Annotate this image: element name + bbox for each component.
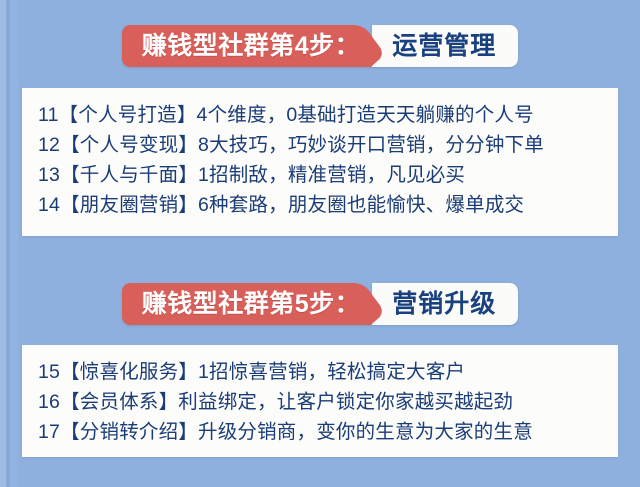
- content-card-1-inner: 11【个人号打造】4个维度，0基础打造天天躺赚的个人号 12【个人号变现】8大技…: [22, 88, 618, 232]
- step-banner-5-red-part: 赚钱型社群第5步：: [122, 283, 386, 325]
- list-item: 11【个人号打造】4个维度，0基础打造天天躺赚的个人号: [38, 100, 604, 130]
- step-banner-5-step-label: 赚钱型社群第5步：: [142, 292, 360, 317]
- content-card-2-inner: 15【惊喜化服务】1招惊喜营销，轻松搞定大客户 16【会员体系】利益绑定，让客户…: [22, 345, 618, 459]
- content-card-1: 11【个人号打造】4个维度，0基础打造天天躺赚的个人号 12【个人号变现】8大技…: [22, 88, 618, 236]
- list-item: 16【会员体系】利益绑定，让客户锁定你家越买越起劲: [38, 387, 604, 417]
- content-card-2: 15【惊喜化服务】1招惊喜营销，轻松搞定大客户 16【会员体系】利益绑定，让客户…: [22, 345, 618, 457]
- step-banner-4: 赚钱型社群第4步： 运营管理: [122, 25, 518, 67]
- list-item: 13【千人与千面】1招制敌，精准营销，凡见必买: [38, 160, 604, 190]
- step-banner-5: 赚钱型社群第5步： 营销升级: [122, 283, 518, 325]
- list-item: 17【分销转介绍】升级分销商，变你的生意为大家的生意: [38, 417, 604, 447]
- step-banner-5-white-part: 营销升级: [372, 283, 518, 325]
- step-banner-4-red-part: 赚钱型社群第4步：: [122, 25, 386, 67]
- step-banner-4-topic-label: 运营管理: [392, 34, 496, 59]
- step-banner-4-white-part: 运营管理: [372, 25, 518, 67]
- step-banner-4-step-label: 赚钱型社群第4步：: [142, 34, 360, 59]
- list-item: 15【惊喜化服务】1招惊喜营销，轻松搞定大客户: [38, 357, 604, 387]
- list-item: 12【个人号变现】8大技巧，巧妙谈开口营销，分分钟下单: [38, 130, 604, 160]
- section-1-banner: 赚钱型社群第4步： 运营管理: [0, 25, 640, 67]
- section-2-banner: 赚钱型社群第5步： 营销升级: [0, 283, 640, 325]
- step-banner-5-topic-label: 营销升级: [392, 292, 496, 317]
- list-item: 14【朋友圈营销】6种套路，朋友圈也能愉快、爆单成交: [38, 190, 604, 220]
